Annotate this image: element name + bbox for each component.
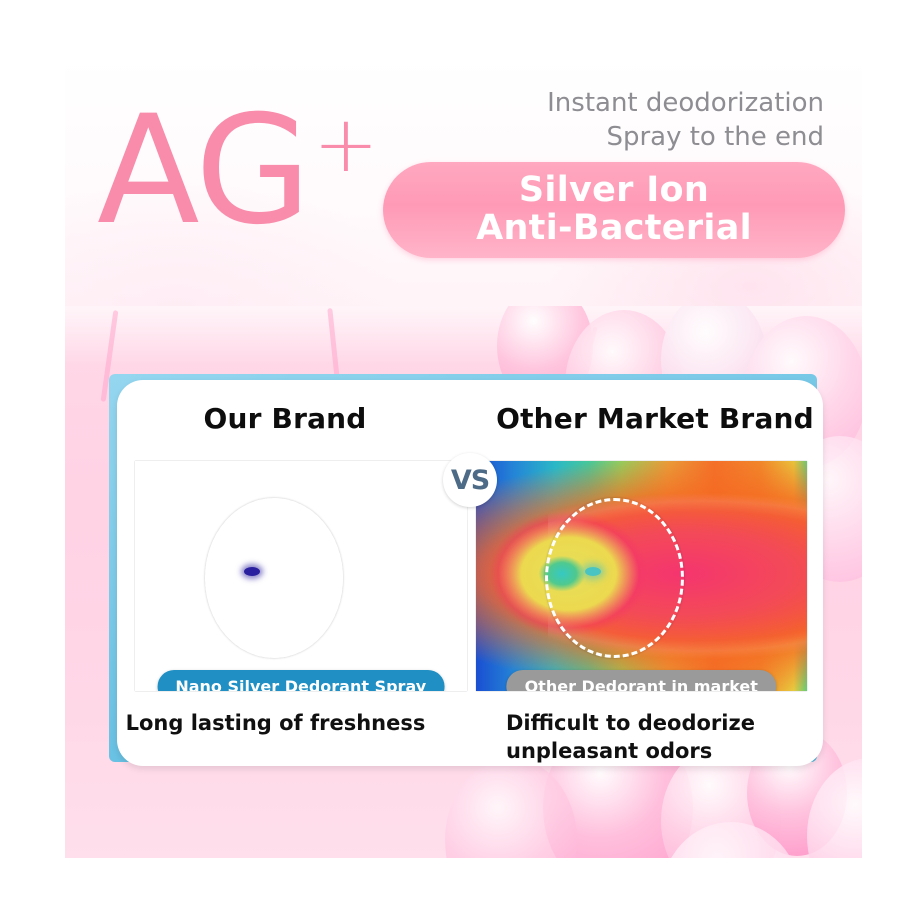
caption-other-brand-line-2: unpleasant odors — [506, 738, 823, 766]
heading-our-brand: Our Brand — [117, 402, 481, 435]
tagline-line-2: Spray to the end — [547, 120, 824, 154]
caption-our-brand: Long lasting of freshness — [117, 710, 460, 765]
badge-line-2: Anti-Bacterial — [476, 210, 752, 248]
brand-logo-plus: + — [313, 100, 376, 190]
comparison-card: Our Brand Other Market Brand Nano Silver… — [117, 380, 823, 766]
thermal-hotspot — [585, 567, 601, 576]
brand-logo: AG+ — [97, 96, 377, 246]
badge-line-1: Silver Ion — [476, 172, 752, 210]
label-nano-silver-spray: Nano Silver Dedorant Spray — [157, 670, 444, 691]
tagline: Instant deodorization Spray to the end — [547, 86, 824, 155]
comparison-headings: Our Brand Other Market Brand — [117, 402, 823, 435]
dashed-highlight-oval — [205, 498, 344, 658]
heading-other-brand: Other Market Brand — [481, 402, 823, 435]
comparison-captions: Long lasting of freshness Difficult to d… — [117, 710, 823, 765]
caption-other-brand-line-1: Difficult to deodorize — [506, 710, 823, 738]
product-poster: AG+ Instant deodorization Spray to the e… — [65, 58, 862, 858]
caption-other-brand: Difficult to deodorize unpleasant odors — [460, 710, 823, 765]
dashed-highlight-oval — [545, 498, 684, 658]
brand-logo-text: AG — [97, 84, 309, 258]
tagline-line-1: Instant deodorization — [547, 86, 824, 120]
vs-badge: VS — [443, 453, 497, 507]
thermal-hotspot — [244, 567, 260, 576]
thermal-image-other-brand: Other Dedorant in market — [476, 461, 808, 691]
silver-ion-badge-text: Silver Ion Anti-Bacterial — [476, 172, 752, 248]
thermal-image-our-brand: Nano Silver Dedorant Spray — [135, 461, 467, 691]
silver-ion-badge: Silver Ion Anti-Bacterial — [383, 162, 845, 258]
label-other-deodorant: Other Dedorant in market — [507, 670, 776, 691]
